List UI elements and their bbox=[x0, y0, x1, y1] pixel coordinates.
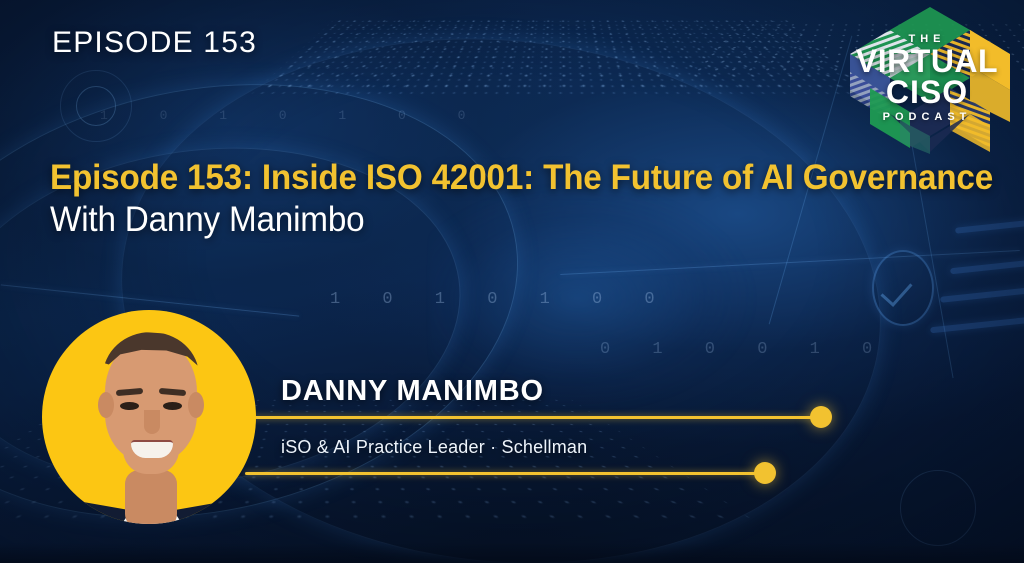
podcast-episode-poster: 1 0 1 0 1 0 0 0 1 0 0 1 0 1 0 1 0 1 0 0 … bbox=[0, 0, 1024, 563]
speaker-name: DANNY MANIMBO bbox=[281, 375, 544, 408]
page-title: Episode 153: Inside ISO 42001: The Futur… bbox=[50, 158, 934, 197]
episode-label: EPISODE 153 bbox=[52, 26, 257, 60]
speaker-role: iSO & AI Practice Leader · Schellman bbox=[281, 437, 587, 458]
accent-line-upper bbox=[245, 416, 823, 419]
title-block: Episode 153: Inside ISO 42001: The Futur… bbox=[50, 158, 980, 240]
accent-line-lower bbox=[245, 472, 768, 475]
podcast-logo[interactable]: THE VIRTUAL CISO PODCAST bbox=[838, 2, 1016, 154]
avatar bbox=[42, 310, 256, 524]
hexagon-cube-icon bbox=[838, 2, 1016, 154]
accent-dot-lower bbox=[754, 462, 776, 484]
avatar-photo bbox=[42, 310, 256, 524]
accent-dot-upper bbox=[810, 406, 832, 428]
page-subtitle: With Danny Manimbo bbox=[50, 199, 934, 240]
portrait-illustration bbox=[79, 322, 221, 524]
